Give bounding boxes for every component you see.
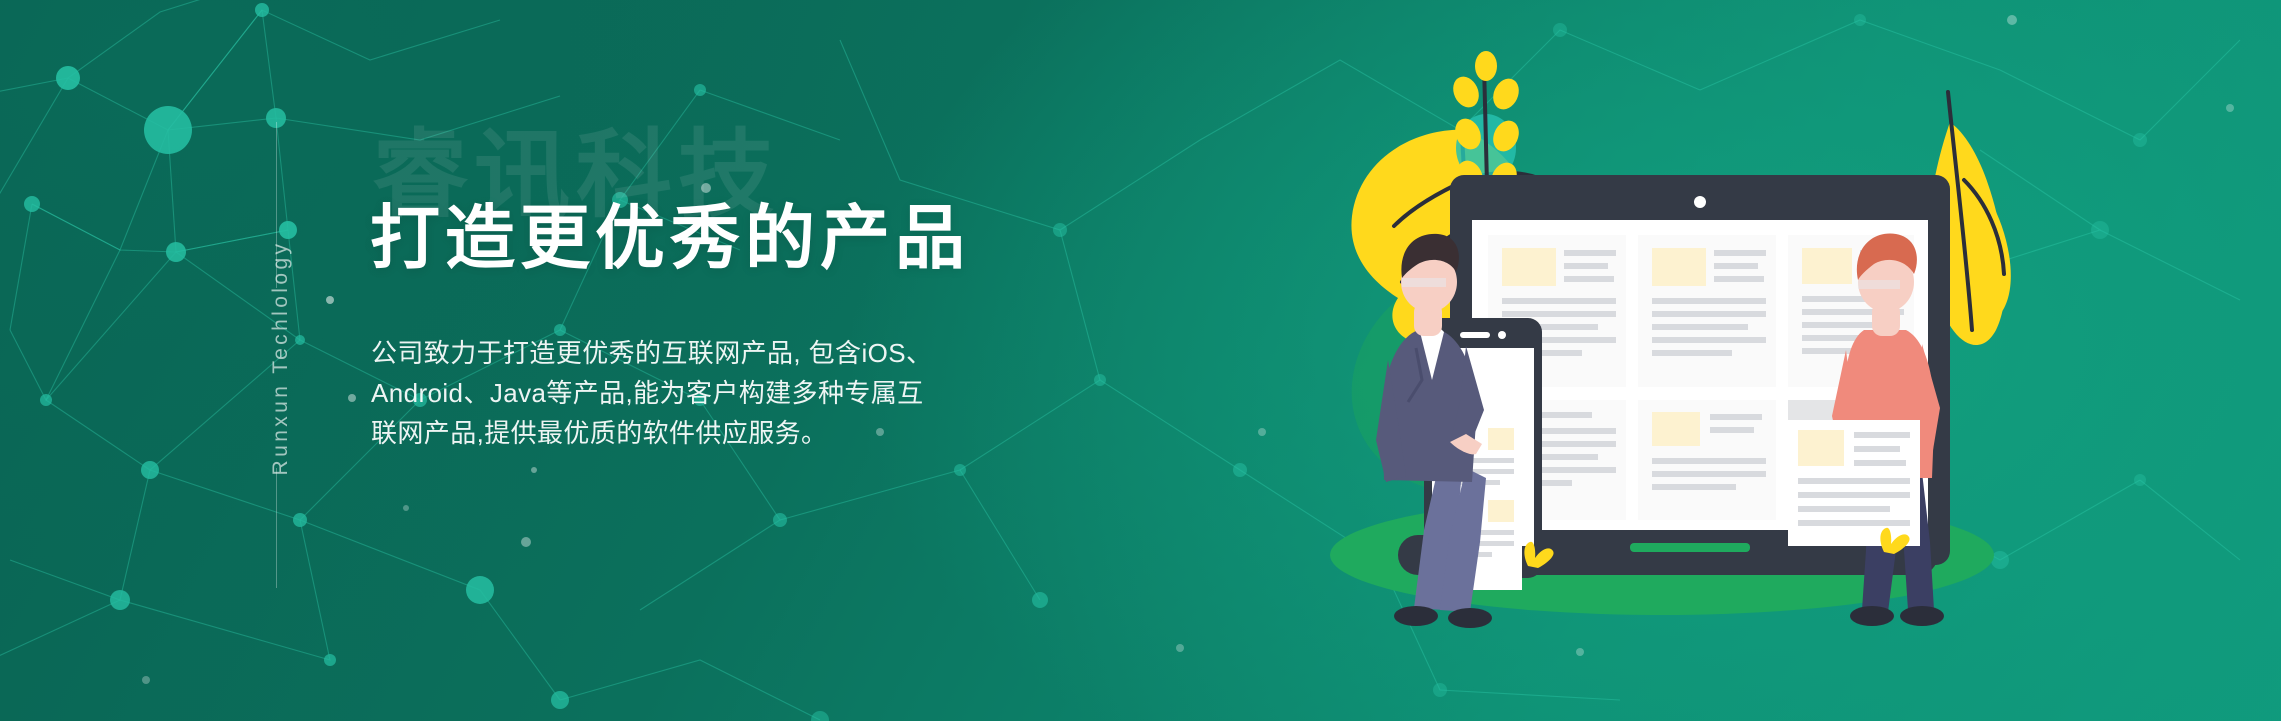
hero-illustration	[1290, 30, 2030, 640]
intro-paragraph: 公司致力于打造更优秀的互联网产品, 包含iOS、 Android、Java等产品…	[371, 333, 1171, 453]
paragraph-line-3: 联网产品,提供最优质的软件供应服务。	[371, 413, 1171, 453]
vertical-label-group: Runxun Techlology	[258, 168, 304, 548]
document-card-right	[1788, 420, 1920, 546]
paragraph-line-1: 公司致力于打造更优秀的互联网产品, 包含iOS、	[371, 333, 1171, 373]
hero-banner: 睿讯科技 Runxun Techlology 打造更优秀的产品 公司致力于打造更…	[0, 0, 2281, 721]
laptop-trackpad	[1630, 543, 1750, 552]
paragraph-line-2: Android、Java等产品,能为客户构建多种专属互	[371, 373, 1171, 413]
vertical-brand-label: Runxun Techlology	[269, 241, 293, 476]
tablet-speaker-icon	[1460, 332, 1490, 338]
vertical-rule-bottom	[276, 468, 277, 588]
laptop-camera-icon	[1694, 196, 1706, 208]
page-title: 打造更优秀的产品	[370, 203, 970, 273]
tablet-camera-icon	[1498, 331, 1506, 339]
